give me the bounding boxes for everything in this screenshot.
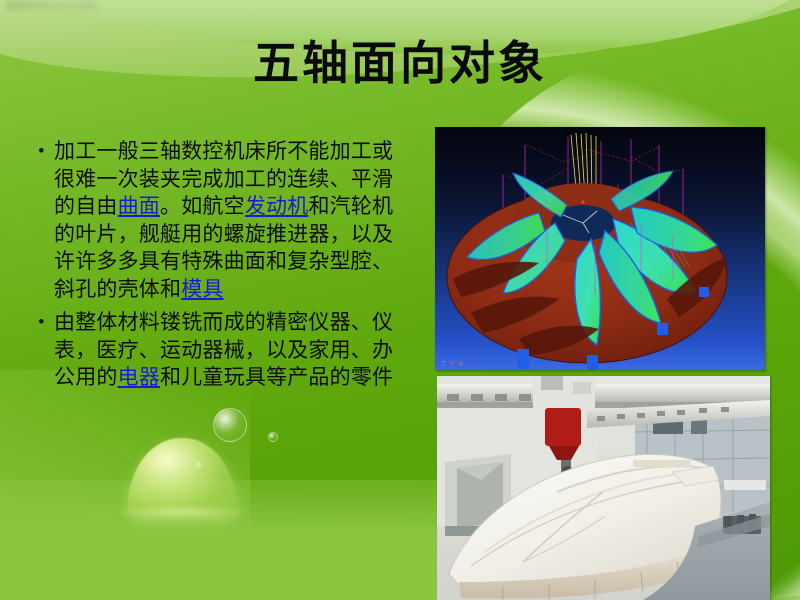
bullet-text: 由整体材料镂铣而成的精密仪器、仪表，医疗、运动器械，以及家用、办公用的电器和儿童… <box>54 309 412 392</box>
hyperlink-appliance[interactable]: 电器 <box>118 365 160 389</box>
top-left-watermark-artifact <box>6 1 96 10</box>
bullet-marker: • <box>32 309 54 336</box>
axis-triad-label: Z Y X <box>441 360 464 368</box>
impeller-toolpath-image: Z Y X <box>435 127 765 370</box>
impeller-toolpath-illustration <box>435 127 765 370</box>
bullet-segment: 。如航空 <box>160 194 245 218</box>
bullet-item: • 由整体材料镂铣而成的精密仪器、仪表，医疗、运动器械，以及家用、办公用的电器和… <box>32 309 412 392</box>
bubble-icon-tiny <box>196 462 202 468</box>
hyperlink-engine[interactable]: 发动机 <box>245 194 309 218</box>
presentation-slide: 五轴面向对象 • 加工一般三轴数控机床所不能加工或很难一次装夹完成加工的连续、平… <box>0 0 800 600</box>
bullet-segment: 和儿童玩具等产品的零件 <box>160 365 393 389</box>
body-content: • 加工一般三轴数控机床所不能加工或很难一次装夹完成加工的连续、平滑的自由曲面。… <box>32 138 412 398</box>
bubble-icon-small <box>268 432 278 442</box>
hyperlink-mould[interactable]: 模具 <box>181 277 223 301</box>
bullet-marker: • <box>32 138 54 165</box>
bullet-text: 加工一般三轴数控机床所不能加工或很难一次装夹完成加工的连续、平滑的自由曲面。如航… <box>54 138 412 303</box>
cnc-machine-photo <box>437 376 770 600</box>
hyperlink-curved-surface[interactable]: 曲面 <box>118 194 160 218</box>
bullet-item: • 加工一般三轴数控机床所不能加工或很难一次装夹完成加工的连续、平滑的自由曲面。… <box>32 138 412 303</box>
cnc-milling-illustration <box>437 376 770 600</box>
bubble-icon-large <box>213 408 247 442</box>
page-title: 五轴面向对象 <box>0 38 800 89</box>
